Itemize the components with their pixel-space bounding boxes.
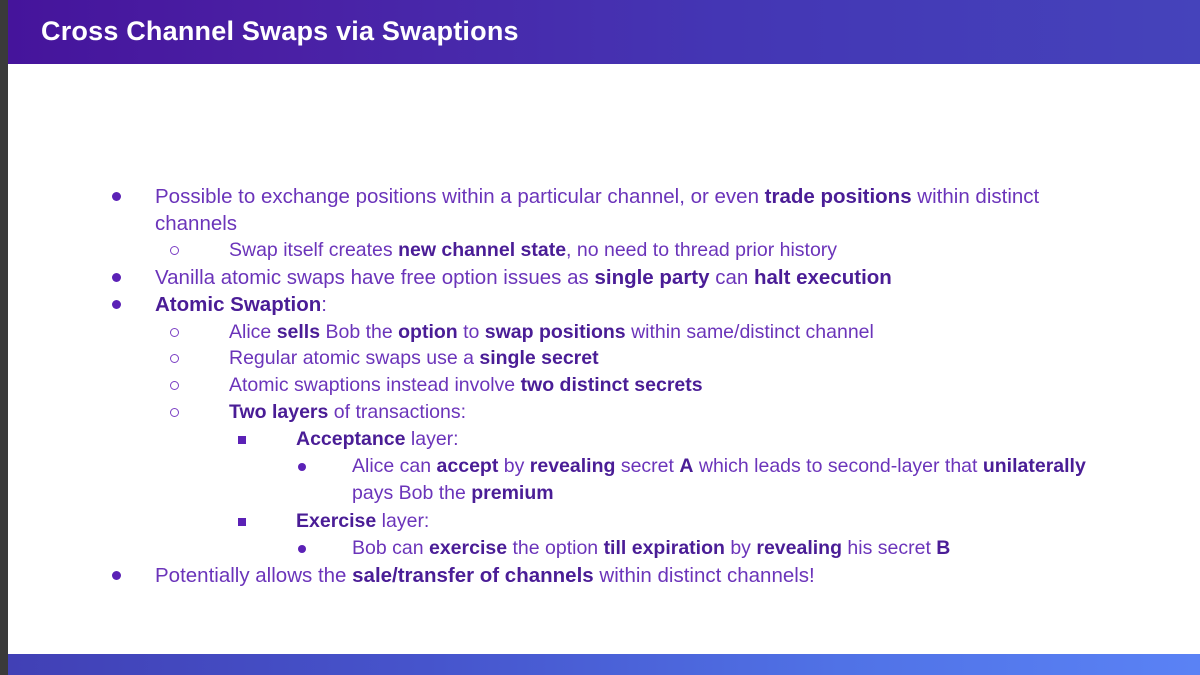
bullet-text-emphasis: swap positions [485,321,626,343]
bullet-text-run: layer: [376,510,429,532]
bullet-item: Possible to exchange positions within a … [112,183,1122,237]
bullet-text-emphasis: single party [594,266,709,289]
bullet-text-emphasis: sells [277,321,320,343]
slide-title: Cross Channel Swaps via Swaptions [41,16,519,47]
presentation-slide: Cross Channel Swaps via Swaptions Possib… [0,0,1200,675]
bullet-text: Atomic Swaption: [155,291,1122,318]
bullet-marker [170,399,229,417]
bullet-item: Alice sells Bob the option to swap posit… [112,319,1122,346]
bullet-list: Possible to exchange positions within a … [112,183,1122,590]
bullet-text-run: which leads to second-layer that [693,455,982,477]
bullet-text-emphasis: single secret [479,347,598,369]
bullet-item: Bob can exercise the option till expirat… [112,535,1122,563]
bullet-hollow-circle-icon [170,381,179,390]
bullet-text-emphasis: Acceptance [296,428,405,450]
bullet-text-emphasis: option [398,321,458,343]
bullet-hollow-circle-icon [170,328,179,337]
bullet-hollow-circle-icon [170,354,179,363]
bullet-hollow-circle-icon [170,246,179,255]
bullet-item: Alice can accept by revealing secret A w… [112,453,1122,508]
bullet-text-run: pays Bob the [352,482,471,504]
bullet-text: Atomic swaptions instead involve two dis… [229,372,1122,399]
bullet-text-run: Atomic swaptions instead involve [229,374,521,396]
bullet-text: Regular atomic swaps use a single secret [229,345,1122,372]
bullet-text-run: to [458,321,485,343]
bullet-text-emphasis: exercise [429,537,507,559]
bullet-text-emphasis: two distinct secrets [521,374,703,396]
bullet-filled-circle-icon [112,273,121,282]
bullet-filled-circle-icon [112,300,121,309]
bullet-marker [238,508,296,526]
bullet-text: Swap itself creates new channel state, n… [229,237,1122,264]
bullet-text-emphasis: premium [471,482,553,504]
bullet-text-emphasis: trade positions [765,185,912,208]
bullet-marker [112,291,155,309]
bullet-item: Atomic Swaption: [112,291,1122,318]
bullet-text-run: can [710,266,754,289]
bullet-text-emphasis: revealing [756,537,842,559]
bullet-marker [298,535,352,553]
bullet-text-run: by [725,537,756,559]
bullet-text-emphasis: new channel state [398,239,566,261]
bullet-text-run: Alice can [352,455,437,477]
bullet-filled-square-icon [238,518,246,526]
slide-body: Possible to exchange positions within a … [8,64,1200,654]
bullet-text-run: : [321,293,327,316]
bullet-small-circle-icon [298,545,306,553]
bullet-marker [112,562,155,580]
bullet-text-emphasis: sale/transfer of channels [352,564,594,587]
bullet-text-run: by [498,455,529,477]
bullet-marker [170,237,229,255]
bullet-marker [170,345,229,363]
bullet-text-run: the option [507,537,604,559]
bullet-text-run: Regular atomic swaps use a [229,347,479,369]
bullet-text-run: within same/distinct channel [626,321,874,343]
bullet-marker [170,372,229,390]
bullet-item: Two layers of transactions: [112,399,1122,426]
bullet-filled-circle-icon [112,571,121,580]
bullet-text-run: , no need to thread prior history [566,239,837,261]
bullet-small-circle-icon [298,463,306,471]
bullet-text: Exercise layer: [296,508,1122,535]
bullet-text-emphasis: unilaterally [983,455,1086,477]
bullet-item: Regular atomic swaps use a single secret [112,345,1122,372]
bullet-text-run: Vanilla atomic swaps have free option is… [155,266,594,289]
bullet-text-run: Potentially allows the [155,564,352,587]
slide-footer-band [8,654,1200,675]
bullet-text-run: Bob the [320,321,398,343]
bullet-text-emphasis: halt execution [754,266,892,289]
bullet-text-emphasis: accept [437,455,499,477]
bullet-hollow-circle-icon [170,408,179,417]
bullet-text-run: Possible to exchange positions within a … [155,185,765,208]
bullet-text-emphasis: Two layers [229,401,328,423]
bullet-text: Alice can accept by revealing secret A w… [352,453,1122,508]
slide-left-edge-strip [0,0,8,675]
bullet-text-run: his secret [842,537,936,559]
bullet-item: Exercise layer: [112,508,1122,535]
bullet-text: Acceptance layer: [296,426,1122,453]
bullet-text-run: of transactions: [328,401,466,423]
bullet-marker [112,264,155,282]
slide-header-band: Cross Channel Swaps via Swaptions [8,0,1200,64]
bullet-text: Bob can exercise the option till expirat… [352,535,1122,563]
bullet-marker [238,426,296,444]
bullet-text-emphasis: Atomic Swaption [155,293,321,316]
bullet-text-emphasis: till expiration [604,537,725,559]
bullet-marker [170,319,229,337]
bullet-text-emphasis: B [936,537,950,559]
bullet-marker [112,183,155,201]
bullet-item: Swap itself creates new channel state, n… [112,237,1122,264]
bullet-item: Vanilla atomic swaps have free option is… [112,264,1122,291]
bullet-text-run: secret [615,455,679,477]
bullet-text: Alice sells Bob the option to swap posit… [229,319,1122,346]
bullet-filled-square-icon [238,436,246,444]
bullet-text-run: layer: [405,428,458,450]
bullet-text-emphasis: revealing [530,455,616,477]
bullet-text: Vanilla atomic swaps have free option is… [155,264,1122,291]
bullet-text: Potentially allows the sale/transfer of … [155,562,1122,589]
bullet-text: Possible to exchange positions within a … [155,183,1122,237]
bullet-text-run: Alice [229,321,277,343]
bullet-item: Potentially allows the sale/transfer of … [112,562,1122,589]
bullet-text-run: within distinct channels! [594,564,815,587]
bullet-text: Two layers of transactions: [229,399,1122,426]
bullet-text-run: Bob can [352,537,429,559]
bullet-text-run: Swap itself creates [229,239,398,261]
bullet-filled-circle-icon [112,192,121,201]
bullet-item: Acceptance layer: [112,426,1122,453]
bullet-text-emphasis: Exercise [296,510,376,532]
bullet-text-emphasis: A [679,455,693,477]
bullet-marker [298,453,352,471]
bullet-item: Atomic swaptions instead involve two dis… [112,372,1122,399]
